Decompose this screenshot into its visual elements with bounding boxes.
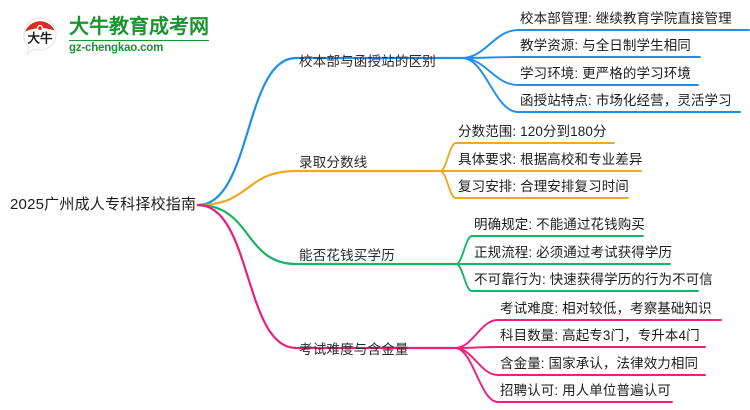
leaf-label-2-2[interactable]: 不可靠行为: 快速获得学历的行为不可信 bbox=[474, 271, 713, 288]
leaf-label-0-2[interactable]: 学习环境: 更严格的学习环境 bbox=[520, 65, 691, 82]
leaf-label-3-0[interactable]: 考试难度: 相对较低，考察基础知识 bbox=[500, 300, 712, 317]
branch-label-3[interactable]: 考试难度与含金量 bbox=[299, 338, 409, 358]
leaf-label-3-1[interactable]: 科目数量: 高起专3门，专升本4门 bbox=[500, 327, 700, 344]
branch-label-0[interactable]: 校本部与函授站的区别 bbox=[299, 50, 436, 70]
leaf-label-0-1[interactable]: 教学资源: 与全日制学生相同 bbox=[520, 37, 691, 54]
leaf-label-1-2[interactable]: 复习安排: 合理安排复习时间 bbox=[458, 178, 629, 195]
leaf-label-2-0[interactable]: 明确规定: 不能通过花钱购买 bbox=[474, 216, 645, 233]
leaf-label-2-1[interactable]: 正规流程: 必须通过考试获得学历 bbox=[474, 244, 672, 261]
leaf-label-3-2[interactable]: 含金量: 国家承认，法律效力相同 bbox=[500, 355, 698, 372]
branch-label-2[interactable]: 能否花钱买学历 bbox=[299, 244, 395, 264]
mindmap-root-label: 2025广州成人专科择校指南 bbox=[10, 193, 196, 214]
leaf-label-1-0[interactable]: 分数范围: 120分到180分 bbox=[458, 123, 607, 140]
leaf-label-0-3[interactable]: 函授站特点: 市场化经营，灵活学习 bbox=[520, 92, 732, 109]
leaf-label-0-0[interactable]: 校本部管理: 继续教育学院直接管理 bbox=[520, 10, 732, 27]
leaf-label-1-1[interactable]: 具体要求: 根据高校和专业差异 bbox=[458, 151, 643, 168]
branch-label-1[interactable]: 录取分数线 bbox=[299, 151, 368, 171]
leaf-label-3-3[interactable]: 招聘认可: 用人单位普遍认可 bbox=[500, 382, 671, 399]
